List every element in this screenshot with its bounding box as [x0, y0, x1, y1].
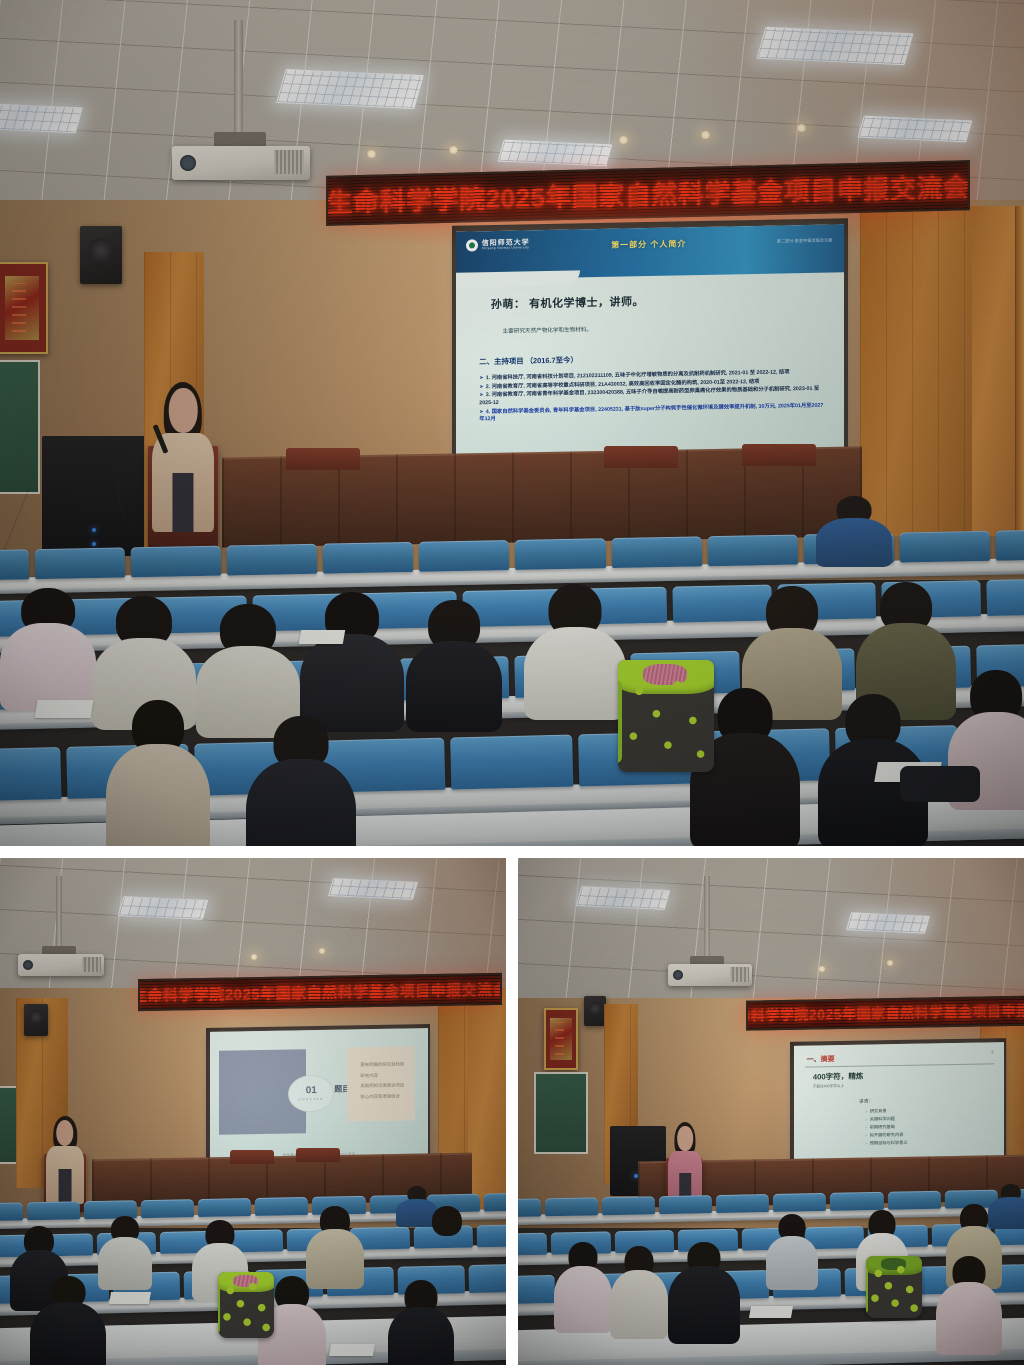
presenter-name-line: 孙萌： 有机化学博士，讲师。 [491, 293, 644, 312]
chapter-badge: 01 CHAPTER [288, 1075, 334, 1113]
chapter-note-line: 研究内容 [360, 1072, 406, 1079]
projector-vent [82, 957, 101, 972]
seat [226, 544, 317, 576]
seat [773, 1193, 826, 1212]
recessed-downlight [448, 146, 459, 154]
recessed-downlight [366, 150, 377, 158]
lecture-hall-scene-chapter-slide: 生命科学学院2025年国家自然科学基金项目申报交流会 01 CHAPTER 题目… [0, 858, 506, 1365]
audience-person [766, 1214, 818, 1286]
seat [130, 546, 221, 578]
chapter-note-line: 用简明的词语表达项目 [360, 1083, 406, 1090]
slide-section-subtitle: 第二部分 基金申报流程及注意 [777, 238, 833, 245]
abstract-heading: 一、摘要 [807, 1054, 835, 1064]
abstract-note: 不超过400字符以上 [813, 1084, 844, 1090]
backpack-strap [218, 1284, 220, 1333]
backpack-strap [618, 680, 622, 763]
projection-screen: 一、摘要 3 400字符，精炼 不超过400字符以上 讲清： 研究背景 关键科学… [794, 1042, 1004, 1168]
chapter-note-line: 要有明确的研究目标和 [360, 1061, 406, 1068]
person-torso [30, 1302, 106, 1365]
backpack-flap [866, 1256, 922, 1275]
seat [34, 547, 125, 579]
audience-person [0, 588, 96, 704]
stage-chair [742, 444, 816, 466]
led-banner: 生命科学学院2025年国家自然科学基金项目申报交流会 [138, 973, 502, 1011]
door-jamb [1015, 206, 1024, 536]
seat [707, 535, 798, 567]
backpack-contents [643, 664, 687, 684]
ceiling-light-panel [858, 116, 973, 143]
presenter-inner-top [172, 473, 193, 532]
audience-person [554, 1242, 612, 1326]
project-list: ➤1. 河南省科技厅, 河南省科技计划项目, 212102311109, 五味子… [479, 369, 828, 426]
wall-speaker [24, 1004, 48, 1036]
notebook-on-desk [299, 630, 345, 644]
audience-person [246, 716, 356, 846]
chapter-label: CHAPTER [298, 1097, 324, 1101]
slide-abstract: 一、摘要 3 400字符，精炼 不超过400字符以上 讲清： 研究背景 关键科学… [794, 1042, 1004, 1168]
framed-calligraphy-artwork [0, 262, 48, 354]
person-torso [766, 1236, 818, 1291]
projector-lens [180, 155, 196, 171]
seat [0, 549, 29, 581]
notebook-on-desk [749, 1306, 793, 1318]
notebook-on-desk [34, 700, 93, 718]
person-torso [388, 1307, 454, 1365]
ceiling-mounted-projector [18, 954, 104, 976]
audience-person [106, 700, 210, 846]
led-banner-text: 生命科学学院2025年国家自然科学基金项目申报交流会 [138, 978, 502, 1006]
seat [518, 1233, 547, 1256]
green-chalkboard [0, 360, 40, 494]
audience-person [610, 1246, 668, 1332]
recessed-downlight [318, 948, 326, 954]
person-torso [106, 744, 210, 846]
audience-person [524, 584, 626, 710]
seat [659, 1195, 712, 1214]
abstract-lead: 讲清： [859, 1098, 873, 1104]
abstract-bullet: 预期目标与科学意义 [865, 1138, 907, 1147]
slide-personal-intro: 信阳师范大学 Xinyang Normal University 第一部分 个人… [456, 224, 844, 471]
seat [986, 578, 1024, 616]
projector-lens [673, 970, 683, 980]
projection-screen: 01 CHAPTER 题目 要有明确的研究目标和 研究内容 用简明的词语表达项目… [210, 1028, 428, 1168]
recessed-downlight [700, 131, 711, 139]
abstract-heading-prefix: 一、 [807, 1056, 821, 1063]
audience-person [306, 1206, 364, 1284]
collage-panel-top: 生命科学学院2025年国家自然科学基金项目申报交流会 信阳师范大学 Xinyan… [0, 0, 1024, 846]
audience-person [388, 1280, 454, 1365]
ceiling-light-panel [328, 878, 418, 900]
seat [602, 1196, 655, 1215]
presenter-head [677, 1126, 693, 1151]
abstract-heading-text: 摘要 [821, 1056, 835, 1063]
recessed-downlight [886, 960, 894, 966]
green-heart-backpack [618, 660, 714, 772]
led-banner-text: 生命科学学院2025年国家自然科学基金项目申报交流会 [746, 1000, 1024, 1026]
backpack-flap [218, 1272, 274, 1292]
photo-collage: 生命科学学院2025年国家自然科学基金项目申报交流会 信阳师范大学 Xinyan… [0, 0, 1024, 1365]
seat [0, 1202, 23, 1221]
jacket-on-desk [900, 766, 980, 802]
seat [255, 1197, 308, 1216]
seat [611, 536, 702, 568]
suspended-tile-ceiling [518, 858, 1024, 1008]
audience-person [668, 1242, 740, 1336]
ceiling-light-panel [0, 103, 83, 134]
wall-speaker [80, 226, 122, 284]
backpack-contents [881, 1258, 907, 1269]
person-torso [0, 623, 96, 711]
person-torso [610, 1270, 668, 1339]
audience-person [936, 1256, 1002, 1348]
presenter-research-desc: 主要研究天然产物化学和生物材料。 [503, 325, 593, 335]
audience-person [30, 1276, 106, 1365]
ceiling-mounted-projector [668, 964, 752, 986]
seat [419, 540, 510, 572]
ceiling-mounted-projector [172, 146, 310, 180]
audience-person [196, 604, 300, 728]
slide-page-number: 3 [991, 1050, 993, 1055]
projector-lens [23, 960, 33, 970]
projector-vent [730, 967, 748, 982]
seat [515, 538, 606, 570]
ceiling-light-panel [846, 912, 930, 933]
lecture-hall-scene-wide: 生命科学学院2025年国家自然科学基金项目申报交流会 信阳师范大学 Xinyan… [0, 0, 1024, 846]
collage-panel-bottom-left: 生命科学学院2025年国家自然科学基金项目申报交流会 01 CHAPTER 题目… [0, 858, 506, 1365]
seat [450, 735, 573, 790]
person-torso [816, 518, 892, 567]
abstract-heading-rule [805, 1063, 994, 1067]
person-torso [936, 1282, 1002, 1356]
seat [27, 1201, 80, 1220]
green-heart-backpack [218, 1272, 274, 1338]
seat [518, 1198, 541, 1217]
backpack-strap [866, 1267, 868, 1313]
university-logo: 信阳师范大学 Xinyang Normal University [466, 239, 530, 252]
logo-name-en: Xinyang Normal University [482, 247, 530, 251]
ceiling-light-panel [118, 896, 209, 920]
backpack-contents [233, 1275, 259, 1287]
stage-chair [604, 446, 678, 468]
slide-chapter-01: 01 CHAPTER 题目 要有明确的研究目标和 研究内容 用简明的词语表达项目… [210, 1028, 428, 1168]
seat [477, 1224, 506, 1247]
audience-person [98, 1216, 152, 1286]
projection-screen: 信阳师范大学 Xinyang Normal University 第一部分 个人… [456, 224, 844, 471]
recessed-downlight [796, 124, 807, 132]
seat [887, 1191, 940, 1210]
notebook-on-desk [109, 1292, 151, 1304]
slide-section-title: 第一部分 个人简介 [611, 238, 686, 250]
projector-mount-pole [56, 876, 62, 950]
recessed-downlight [618, 136, 629, 144]
seat [483, 1193, 506, 1212]
ceiling-light-panel [756, 27, 913, 66]
audience-person [856, 582, 956, 710]
presenter-head [169, 388, 198, 433]
person-torso [98, 1237, 152, 1290]
projector-mount-pole [234, 20, 243, 136]
person-torso [668, 1266, 740, 1343]
slide-heading-projects: 二、主持项目 （2016.7至今） [479, 354, 578, 367]
seat [0, 747, 61, 802]
ceiling-light-panel [276, 69, 424, 109]
abstract-bullets: 研究背景 关键科学问题 前期研究基础 拟开展的研究内容 预期目标与科学意义 [865, 1107, 907, 1147]
audience-person [406, 600, 502, 722]
person-torso [406, 641, 502, 731]
seat [830, 1192, 883, 1211]
projector-vent [274, 150, 304, 174]
green-heart-backpack [866, 1256, 922, 1318]
abstract-main-line: 400字符，精炼 [813, 1070, 864, 1082]
person-torso [246, 759, 356, 846]
audience-person [816, 496, 892, 566]
led-banner: 生命科学学院2025年国家自然科学基金项目申报交流会 [746, 995, 1024, 1030]
green-chalkboard [534, 1072, 588, 1154]
lecture-hall-scene-abstract-slide: 生命科学学院2025年国家自然科学基金项目申报交流会 一、摘要 3 400字符，… [518, 858, 1024, 1365]
framed-calligraphy-artwork [544, 1008, 578, 1070]
calligraphy-scroll [5, 276, 40, 339]
chapter-note-line: 核心内容和逻辑组合 [360, 1093, 406, 1100]
notebook-on-desk [329, 1344, 375, 1356]
projector-mount-pole [704, 876, 710, 960]
stage-chair [296, 1148, 340, 1162]
presenter-person [152, 382, 214, 532]
recessed-downlight [818, 966, 826, 972]
seat [323, 542, 414, 574]
ceiling-light-panel [576, 886, 671, 910]
wall-speaker [584, 996, 606, 1026]
abstract-bullet: 拟开展的研究内容 [865, 1131, 907, 1140]
stage-chair [230, 1150, 274, 1164]
presenter-person [46, 1116, 84, 1204]
backpack-flap [618, 660, 714, 694]
collage-panel-bottom-right: 生命科学学院2025年国家自然科学基金项目申报交流会 一、摘要 3 400字符，… [518, 858, 1024, 1365]
audience-person [418, 1206, 476, 1286]
stage-chair [286, 448, 360, 470]
recessed-downlight [250, 954, 258, 960]
calligraphy-scroll [550, 1018, 572, 1060]
wood-door [972, 206, 1024, 536]
audience-person [300, 592, 404, 722]
logo-mark-icon [466, 240, 478, 252]
person-torso [524, 627, 626, 720]
chapter-number: 01 [306, 1086, 317, 1096]
ceiling-light-panel [498, 140, 613, 167]
seat [716, 1194, 769, 1213]
chapter-note-card: 要有明确的研究目标和 研究内容 用简明的词语表达项目 核心内容和逻辑组合 [347, 1046, 415, 1122]
person-torso [554, 1266, 612, 1333]
wood-door [468, 990, 506, 1210]
seat [545, 1197, 598, 1216]
seat [899, 531, 990, 563]
seat [198, 1198, 251, 1217]
seat [995, 529, 1024, 561]
slide-header-notch [456, 270, 580, 287]
seat [518, 1275, 555, 1305]
